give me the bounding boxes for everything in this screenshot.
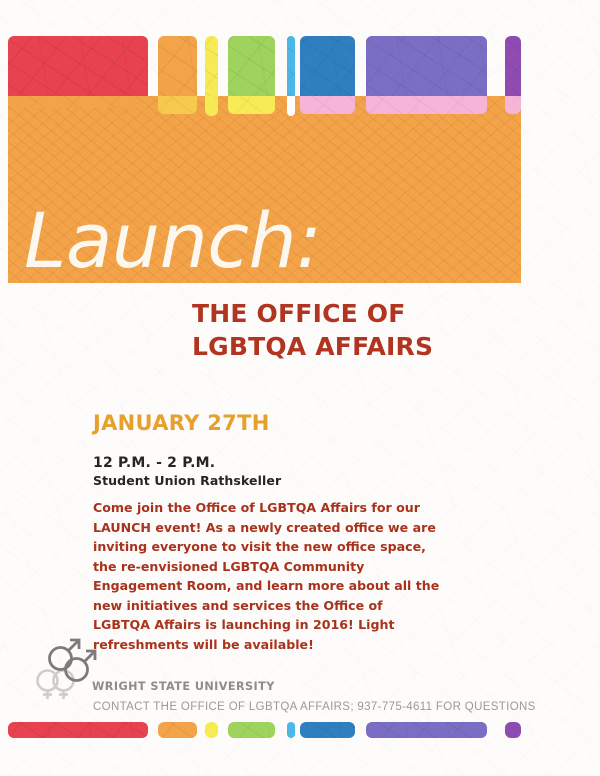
- poster-canvas: Launch: THE OFFICE OF LGBTQA AFFAIRS JAN…: [0, 0, 600, 776]
- bar-texture: [300, 722, 355, 738]
- page-title: Launch:: [24, 203, 321, 279]
- event-time: 12 P.M. - 2 P.M.: [93, 455, 215, 471]
- bar-lightblue: [287, 96, 295, 116]
- bar-texture: [8, 96, 148, 108]
- bar-texture: [366, 722, 487, 738]
- event-location: Student Union Rathskeller: [93, 473, 281, 488]
- bar-green: [228, 722, 275, 738]
- bar-periwinkle: [366, 722, 487, 738]
- bar-yellow: [205, 722, 218, 738]
- bar-texture: [228, 96, 275, 114]
- bar-periwinkle: [366, 96, 487, 114]
- page-subtitle: THE OFFICE OF LGBTQA AFFAIRS: [192, 297, 522, 363]
- bar-texture: [158, 722, 197, 738]
- bar-red: [8, 96, 148, 108]
- bar-red: [8, 722, 148, 738]
- bar-texture: [8, 722, 148, 738]
- bar-green: [228, 96, 275, 114]
- bar-lightblue: [287, 722, 295, 738]
- bar-yellow: [205, 96, 218, 116]
- bar-texture: [366, 96, 487, 114]
- bar-texture: [505, 96, 521, 114]
- bar-purple: [505, 96, 521, 114]
- contact-info: CONTACT THE OFFICE OF LGBTQA AFFAIRS; 93…: [93, 701, 536, 713]
- bar-texture: [300, 96, 355, 114]
- bar-orange: [158, 96, 197, 114]
- bar-texture: [228, 722, 275, 738]
- bar-texture: [158, 96, 197, 114]
- bar-orange: [158, 722, 197, 738]
- bar-purple: [505, 722, 521, 738]
- bar-texture: [287, 96, 295, 116]
- event-description: Come join the Office of LGBTQA Affairs f…: [93, 498, 441, 654]
- bar-texture: [505, 722, 521, 738]
- bar-blue: [300, 96, 355, 114]
- bar-texture: [205, 96, 218, 116]
- university-name: WRIGHT STATE UNIVERSITY: [92, 680, 275, 693]
- bar-texture: [205, 722, 218, 738]
- bar-blue: [300, 722, 355, 738]
- event-date: JANUARY 27TH: [93, 411, 270, 435]
- bar-texture: [287, 722, 295, 738]
